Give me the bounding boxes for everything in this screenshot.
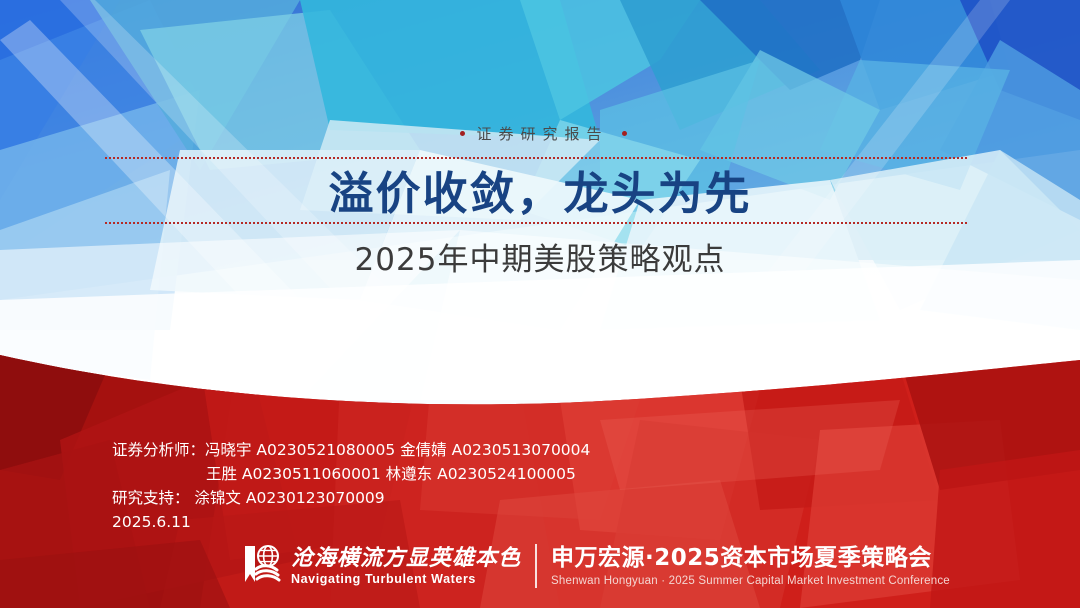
analyst-credits: 证券分析师：冯晓宇 A0230521080005 金倩婧 A0230513070…	[112, 438, 590, 534]
presentation-slide: 证券研究报告 溢价收敛，龙头为先 2025年中期美股策略观点 证券分析师：冯晓宇…	[0, 0, 1080, 608]
credits-line-date: 2025.6.11	[112, 510, 590, 534]
kicker-label: 证券研究报告	[476, 125, 608, 143]
bullet-dot-right-icon	[622, 131, 627, 136]
credits-line-analysts-1: 证券分析师：冯晓宇 A0230521080005 金倩婧 A0230513070…	[112, 438, 590, 462]
report-kicker-text: 证券研究报告	[453, 123, 626, 144]
slide-title: 溢价收敛，龙头为先	[0, 168, 1080, 220]
footer-brand-lockup: 沧海横流方显英雄本色 Navigating Turbulent Waters 申…	[243, 538, 950, 594]
slide-subtitle: 2025年中期美股策略观点	[0, 240, 1080, 280]
credits-line-support: 研究支持： 涂锦文 A0230123070009	[112, 486, 590, 510]
credits-line-analysts-2: 王胜 A0230511060001 林遵东 A0230524100005	[112, 462, 590, 486]
divider-rule-bottom	[105, 222, 967, 224]
divider-rule-top	[105, 157, 967, 159]
slogan-english: Navigating Turbulent Waters	[291, 572, 521, 587]
footer-vertical-divider	[535, 544, 537, 588]
report-kicker: 证券研究报告	[0, 123, 1080, 144]
event-name-chinese: 申万宏源·2025资本市场夏季策略会	[551, 545, 950, 572]
event-name-english: Shenwan Hongyuan · 2025 Summer Capital M…	[551, 574, 950, 588]
globe-hand-logo-icon	[243, 543, 283, 590]
bullet-dot-left-icon	[460, 131, 465, 136]
slogan-chinese: 沧海横流方显英雄本色	[291, 546, 521, 571]
conference-slogan: 沧海横流方显英雄本色 Navigating Turbulent Waters	[291, 546, 535, 587]
conference-name: 申万宏源·2025资本市场夏季策略会 Shenwan Hongyuan · 20…	[551, 545, 950, 588]
